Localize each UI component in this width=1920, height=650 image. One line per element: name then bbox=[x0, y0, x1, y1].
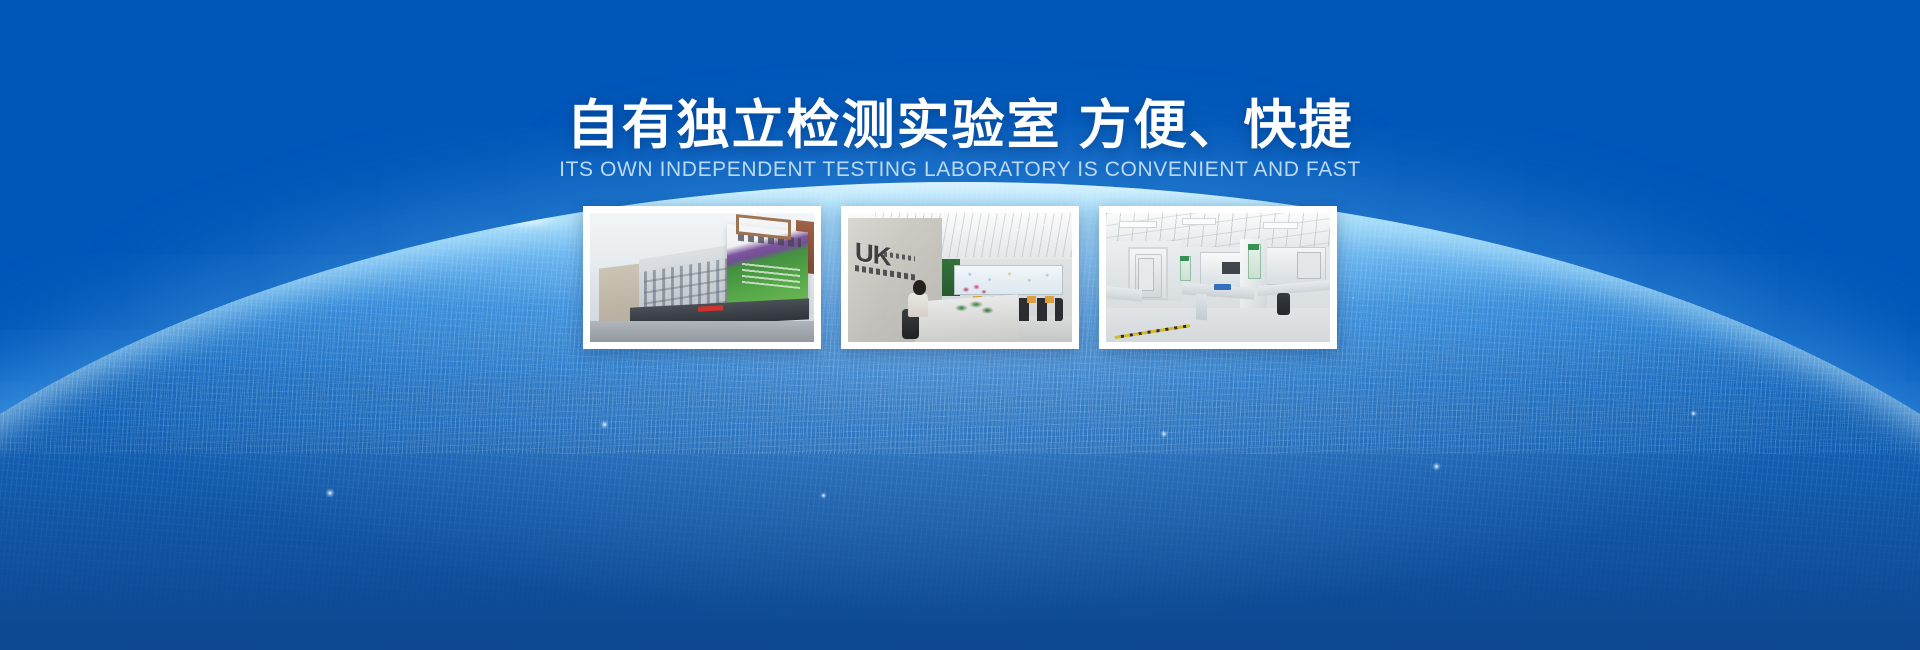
building-red-sign bbox=[698, 305, 723, 311]
lab-test-chamber-door bbox=[1138, 258, 1153, 291]
lab-ceiling-light bbox=[1263, 222, 1299, 229]
testing-laboratory-image bbox=[1106, 213, 1330, 342]
lab-chair bbox=[1277, 293, 1290, 315]
photo-frame-reception[interactable]: UK bbox=[841, 206, 1079, 349]
lab-cabinet-door bbox=[1297, 252, 1321, 280]
photo-strip: UK bbox=[0, 206, 1920, 349]
receptionist-head bbox=[913, 280, 926, 295]
promo-banner: 自有独立检测实验室 方便、快捷 ITS OWN INDEPENDENT TEST… bbox=[0, 0, 1920, 650]
ceiling-spotlight bbox=[956, 226, 963, 230]
lab-ceiling-light bbox=[1182, 218, 1215, 225]
lab-ceiling-light bbox=[1119, 221, 1157, 228]
lab-bench-support bbox=[1196, 294, 1207, 321]
ceiling-spotlight bbox=[987, 222, 994, 226]
lab-instrument-panel bbox=[1222, 262, 1240, 274]
lab-wall-sign-small-header bbox=[1180, 256, 1189, 261]
lab-floor bbox=[1106, 308, 1330, 342]
page-title: 自有独立检测实验室 方便、快捷 bbox=[0, 96, 1920, 155]
building-street bbox=[590, 321, 814, 342]
photo-frame-laboratory[interactable] bbox=[1099, 206, 1337, 349]
lab-blue-container bbox=[1214, 284, 1232, 290]
company-building-exterior-image bbox=[590, 213, 814, 342]
reception-lobby-image: UK bbox=[848, 213, 1072, 342]
lab-pillar-sign-header bbox=[1248, 244, 1259, 250]
reception-flowers bbox=[960, 283, 990, 305]
photo-frame-building[interactable] bbox=[583, 206, 821, 349]
receptionist-body bbox=[908, 293, 928, 317]
page-subtitle: ITS OWN INDEPENDENT TESTING LABORATORY I… bbox=[0, 158, 1920, 182]
